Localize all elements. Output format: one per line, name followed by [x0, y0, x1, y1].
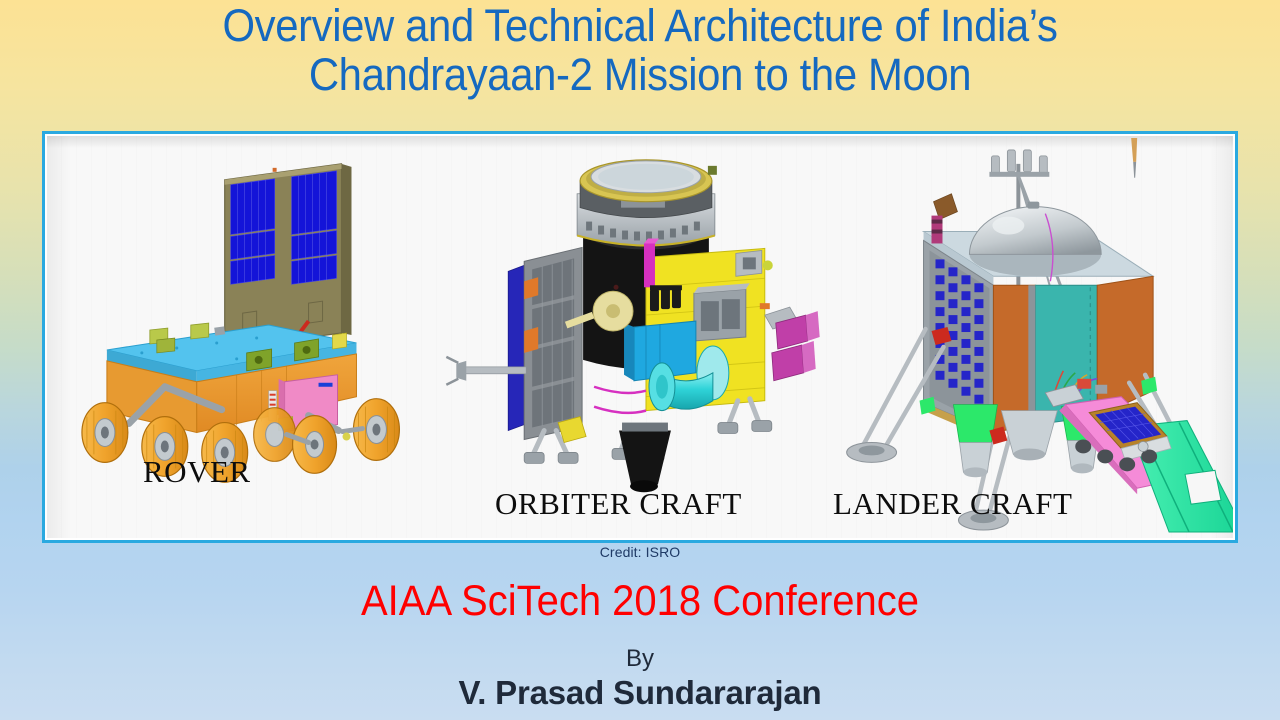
figure-label-rover: ROVER [143, 454, 251, 490]
figure-label-orbiter: ORBITER CRAFT [495, 486, 742, 522]
rover-assembly [82, 164, 399, 482]
orbiter-connector-cluster [650, 285, 682, 311]
title-line-1: Overview and Technical Architecture of I… [45, 2, 1235, 51]
lander-orange-face-right [1097, 276, 1153, 416]
lander-dome [969, 202, 1101, 282]
spacecraft-figure-frame: ROVER ORBITER CRAFT LANDER CRAFT [42, 131, 1238, 543]
orbiter-assembly [446, 160, 819, 492]
orbiter-left-blue-panel [508, 265, 524, 430]
orbiter-top-right-hardware [736, 250, 773, 276]
title-line-2: Chandrayaan-2 Mission to the Moon [45, 51, 1235, 100]
spacecraft-figure-image: ROVER ORBITER CRAFT LANDER CRAFT [47, 136, 1233, 538]
orbiter-engine-nozzle [619, 423, 671, 493]
orbiter-right-appendages [760, 303, 820, 381]
lander-assembly [847, 150, 1233, 532]
figure-label-lander: LANDER CRAFT [833, 486, 1072, 522]
author-name: V. Prasad Sundararajan [0, 674, 1280, 712]
conference-name: AIAA SciTech 2018 Conference [45, 577, 1235, 626]
slide-title: Overview and Technical Architecture of I… [0, 2, 1280, 99]
hanging-antenna-fragment [1131, 138, 1137, 178]
figure-credit: Credit: ISRO [0, 544, 1280, 560]
byline-label: By [0, 645, 1280, 673]
rover-solar-panel [225, 164, 352, 349]
orbiter-grey-instrument [694, 283, 750, 341]
